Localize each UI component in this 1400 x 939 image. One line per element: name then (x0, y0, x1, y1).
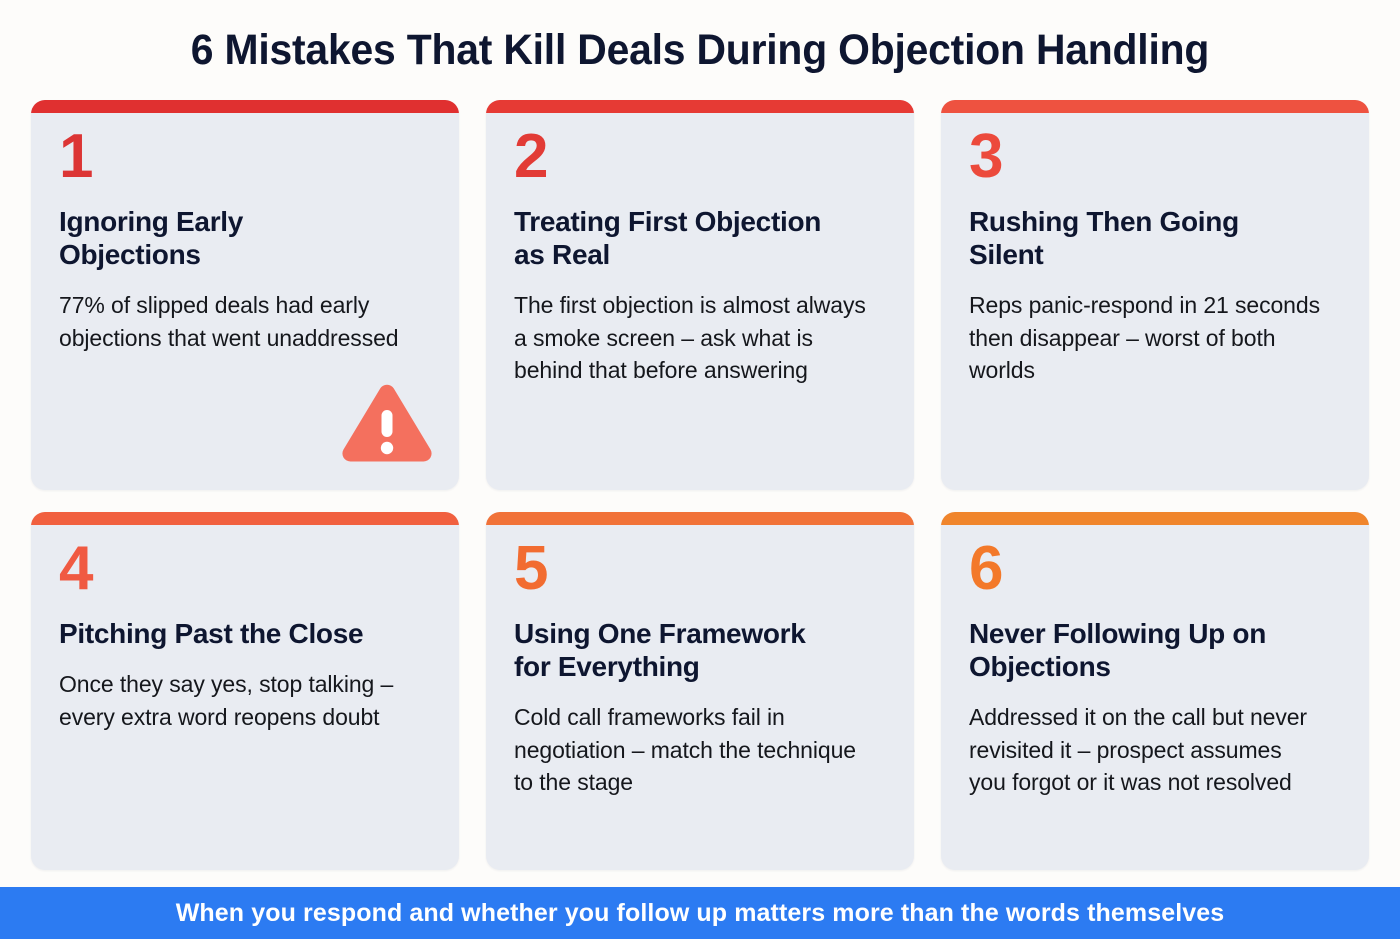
mistake-card-3: 3 Rushing Then Going Silent Reps panic-r… (941, 100, 1369, 490)
card-number-3: 3 (969, 132, 1341, 183)
card-title-1: Ignoring Early Objections (59, 205, 389, 271)
card-body-4: Once they say yes, stop talking – every … (59, 668, 414, 733)
card-title-5: Using One Framework for Everything (514, 617, 844, 683)
card-accent-bar-6 (941, 512, 1369, 525)
card-accent-bar-1 (31, 100, 459, 113)
card-body-5: Cold call frameworks fail in negotiation… (514, 701, 869, 799)
infographic-page: 6 Mistakes That Kill Deals During Object… (0, 0, 1400, 939)
footer-banner-text: When you respond and whether you follow … (176, 899, 1225, 928)
mistake-card-1: 1 Ignoring Early Objections 77% of slipp… (31, 100, 459, 490)
card-body-6: Addressed it on the call but never revis… (969, 701, 1324, 799)
card-accent-bar-3 (941, 100, 1369, 113)
page-title: 6 Mistakes That Kill Deals During Object… (191, 26, 1209, 75)
card-title-6: Never Following Up on Objections (969, 617, 1299, 683)
mistake-card-4: 4 Pitching Past the Close Once they say … (31, 512, 459, 870)
card-title-3: Rushing Then Going Silent (969, 205, 1299, 271)
card-title-2: Treating First Objection as Real (514, 205, 844, 271)
mistake-card-6: 6 Never Following Up on Objections Addre… (941, 512, 1369, 870)
card-body-3: Reps panic-respond in 21 seconds then di… (969, 289, 1324, 387)
mistakes-grid: 1 Ignoring Early Objections 77% of slipp… (0, 100, 1400, 870)
footer-banner: When you respond and whether you follow … (0, 887, 1400, 939)
title-container: 6 Mistakes That Kill Deals During Object… (0, 0, 1400, 100)
card-accent-bar-5 (486, 512, 914, 525)
warning-triangle-icon (339, 382, 435, 464)
card-body-1: 77% of slipped deals had early objection… (59, 289, 414, 354)
mistake-card-2: 2 Treating First Objection as Real The f… (486, 100, 914, 490)
card-body-2: The first objection is almost always a s… (514, 289, 869, 387)
card-number-6: 6 (969, 544, 1341, 595)
card-number-5: 5 (514, 544, 886, 595)
card-accent-bar-4 (31, 512, 459, 525)
mistake-card-5: 5 Using One Framework for Everything Col… (486, 512, 914, 870)
card-number-2: 2 (514, 132, 886, 183)
card-accent-bar-2 (486, 100, 914, 113)
card-number-4: 4 (59, 544, 431, 595)
card-number-1: 1 (59, 132, 431, 183)
card-title-4: Pitching Past the Close (59, 617, 389, 650)
